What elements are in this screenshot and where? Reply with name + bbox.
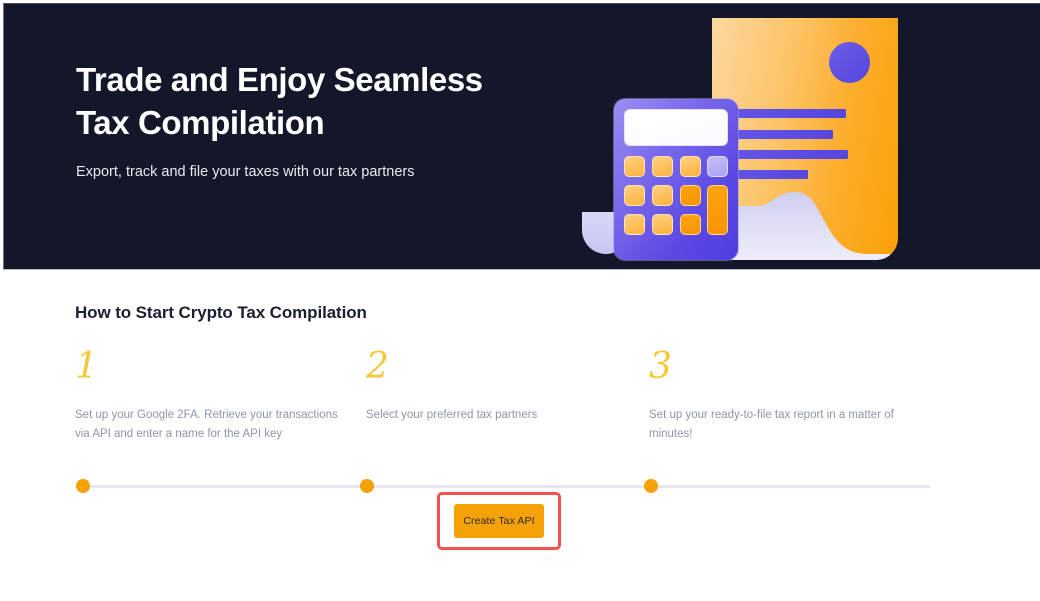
step-item-2: 2 Select your preferred tax partners — [366, 349, 641, 425]
progress-dot-1 — [76, 479, 90, 493]
section-heading: How to Start Crypto Tax Compilation — [75, 303, 1040, 323]
calculator-key — [652, 214, 673, 235]
calculator-icon — [614, 99, 738, 260]
hero-title-line-2: Tax Compilation — [76, 102, 546, 145]
document-wave-shape-icon — [712, 192, 898, 260]
how-to-section: How to Start Crypto Tax Compilation 1 Se… — [3, 270, 1040, 441]
calculator-key — [680, 185, 701, 206]
step-item-3: 3 Set up your ready-to-file tax report i… — [649, 349, 924, 443]
calculator-screen — [624, 109, 728, 146]
step-description: Select your preferred tax partners — [366, 406, 641, 425]
hero-subtitle: Export, track and file your taxes with o… — [76, 161, 456, 184]
calculator-key — [652, 185, 673, 206]
hero-title-line-1: Trade and Enjoy Seamless — [76, 59, 546, 102]
calculator-key-equals — [707, 185, 728, 235]
hero-copy: Trade and Enjoy Seamless Tax Compilation… — [76, 59, 546, 184]
calculator-key — [680, 156, 701, 177]
progress-dot-3 — [644, 479, 658, 493]
calculator-keypad — [624, 156, 728, 250]
calculator-key — [652, 156, 673, 177]
progress-dot-2 — [360, 479, 374, 493]
page-root: Trade and Enjoy Seamless Tax Compilation… — [0, 0, 1040, 601]
create-tax-api-button[interactable]: Create Tax API — [454, 504, 544, 538]
hero-banner: Trade and Enjoy Seamless Tax Compilation… — [3, 3, 1040, 270]
steps-list: 1 Set up your Google 2FA. Retrieve your … — [75, 349, 965, 441]
step-description: Set up your Google 2FA. Retrieve your tr… — [75, 406, 350, 443]
step-description: Set up your ready-to-file tax report in … — [649, 406, 924, 443]
calculator-key — [680, 214, 701, 235]
page-title: Trade and Enjoy Seamless Tax Compilation — [76, 59, 546, 144]
calculator-key — [707, 156, 728, 177]
cta-highlight-box: Create Tax API — [437, 492, 561, 550]
tax-document-calculator-illustration — [574, 4, 914, 270]
progress-rail — [83, 485, 930, 488]
calculator-key — [624, 185, 645, 206]
calculator-key — [624, 214, 645, 235]
calculator-key — [624, 156, 645, 177]
step-number: 1 — [75, 349, 350, 385]
step-number: 2 — [366, 349, 641, 385]
step-item-1: 1 Set up your Google 2FA. Retrieve your … — [75, 349, 350, 443]
document-stamp-circle-icon — [829, 42, 870, 83]
step-number: 3 — [649, 349, 924, 385]
document-icon — [712, 18, 898, 260]
